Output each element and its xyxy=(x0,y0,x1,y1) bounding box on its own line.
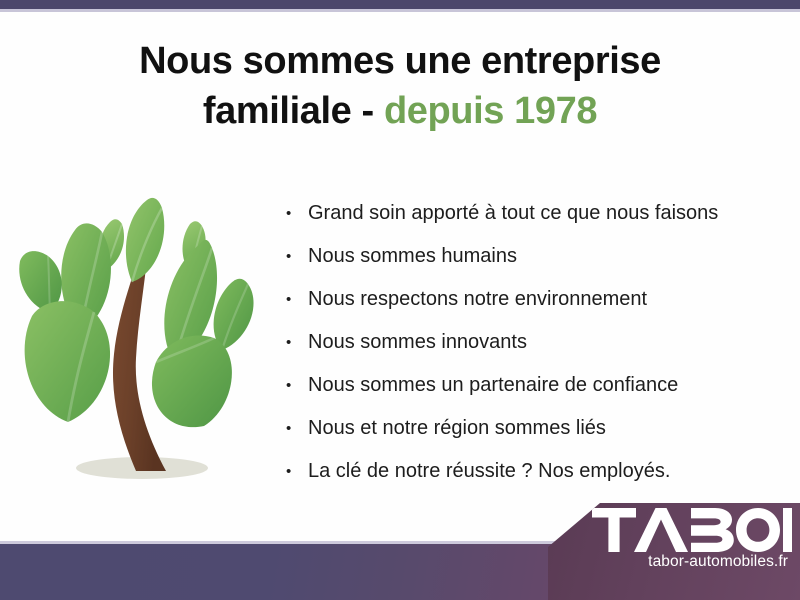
leaf-lower-right xyxy=(152,335,232,427)
leaf-lower-left xyxy=(25,301,110,422)
list-item: Nous sommes un partenaire de confiance xyxy=(286,364,766,407)
list-item: La clé de notre réussite ? Nos employés. xyxy=(286,450,766,493)
page-title: Nous sommes une entreprise familiale - d… xyxy=(40,36,760,136)
slide-canvas: Nous sommes une entreprise familiale - d… xyxy=(0,0,800,600)
top-accent-bar xyxy=(0,0,800,9)
list-item: Grand soin apporté à tout ce que nous fa… xyxy=(286,192,766,235)
value-list: Grand soin apporté à tout ce que nous fa… xyxy=(286,192,766,493)
logo-panel: tabor-automobiles.fr xyxy=(548,503,800,600)
headline-line-1: Nous sommes une entreprise xyxy=(139,40,661,82)
tree-illustration xyxy=(14,186,276,498)
top-accent-line xyxy=(0,9,800,12)
headline-accent: depuis 1978 xyxy=(384,90,597,132)
logo-website-url: tabor-automobiles.fr xyxy=(548,553,800,571)
tabor-logo-icon xyxy=(592,508,792,552)
list-item: Nous et notre région sommes liés xyxy=(286,407,766,450)
leaf-top-center xyxy=(126,198,164,282)
list-item: Nous respectons notre environnement xyxy=(286,278,766,321)
headline-line-2-plain: familiale - xyxy=(203,90,384,132)
list-item: Nous sommes innovants xyxy=(286,321,766,364)
leaf-right-outer xyxy=(214,279,254,350)
tree-trunk xyxy=(113,244,166,471)
list-item: Nous sommes humains xyxy=(286,235,766,278)
headline-line-2: familiale - depuis 1978 xyxy=(40,86,760,136)
